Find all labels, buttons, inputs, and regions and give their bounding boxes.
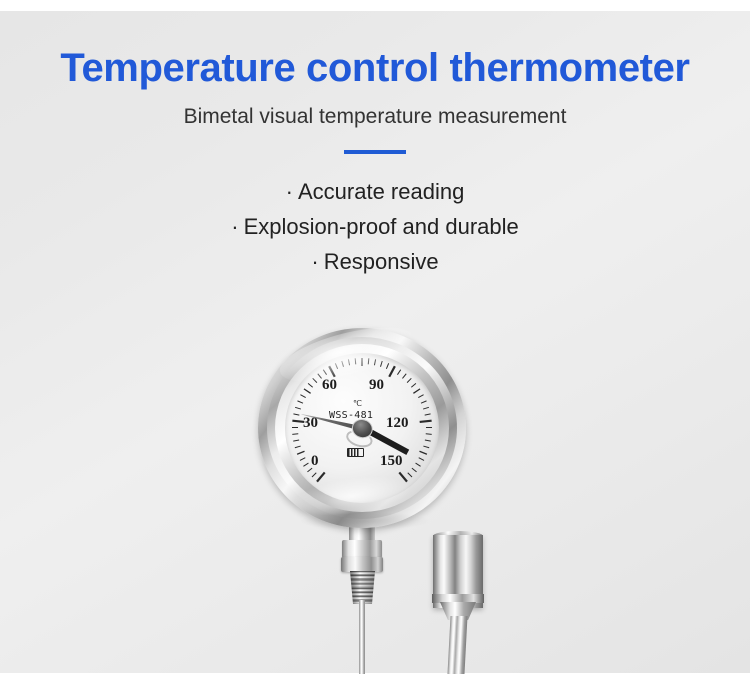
dial-number-150: 150 [380,453,403,470]
gauge-head: 0 30 60 90 120 150 ℃ WSS-481 [258,328,466,528]
page-title: Temperature control thermometer [0,47,750,89]
page-subtitle: Bimetal visual temperature measurement [0,105,750,129]
probe-stem [359,600,365,674]
feature-label: Explosion-proof and durable [244,214,519,239]
hex-nut-upper [342,540,382,558]
bullet-dot: · [311,249,318,274]
list-item: ·Accurate reading [0,175,750,210]
bullet-dot: · [231,214,238,239]
list-item: ·Responsive [0,245,750,280]
dial-face: 0 30 60 90 120 150 ℃ WSS-481 [285,353,439,503]
manufacturer-logo-icon [347,448,364,457]
hex-nut-lower [341,557,383,572]
feature-list: ·Accurate reading ·Explosion-proof and d… [0,175,750,279]
thermowell-band [432,594,484,603]
unit-label: ℃ [353,399,362,408]
thermowell-rod [447,616,467,674]
divider [344,150,406,154]
list-item: ·Explosion-proof and durable [0,210,750,245]
drop-shadow [300,512,430,530]
bullet-dot: · [286,179,293,204]
feature-label: Responsive [324,249,439,274]
dial-number-120: 120 [386,415,409,432]
dial-number-90: 90 [369,377,384,394]
feature-label: Accurate reading [298,179,464,204]
dial-number-0: 0 [311,453,319,470]
product-banner: Temperature control thermometer Bimetal … [0,0,750,697]
header: Temperature control thermometer Bimetal … [0,0,750,279]
dial-number-60: 60 [322,377,337,394]
